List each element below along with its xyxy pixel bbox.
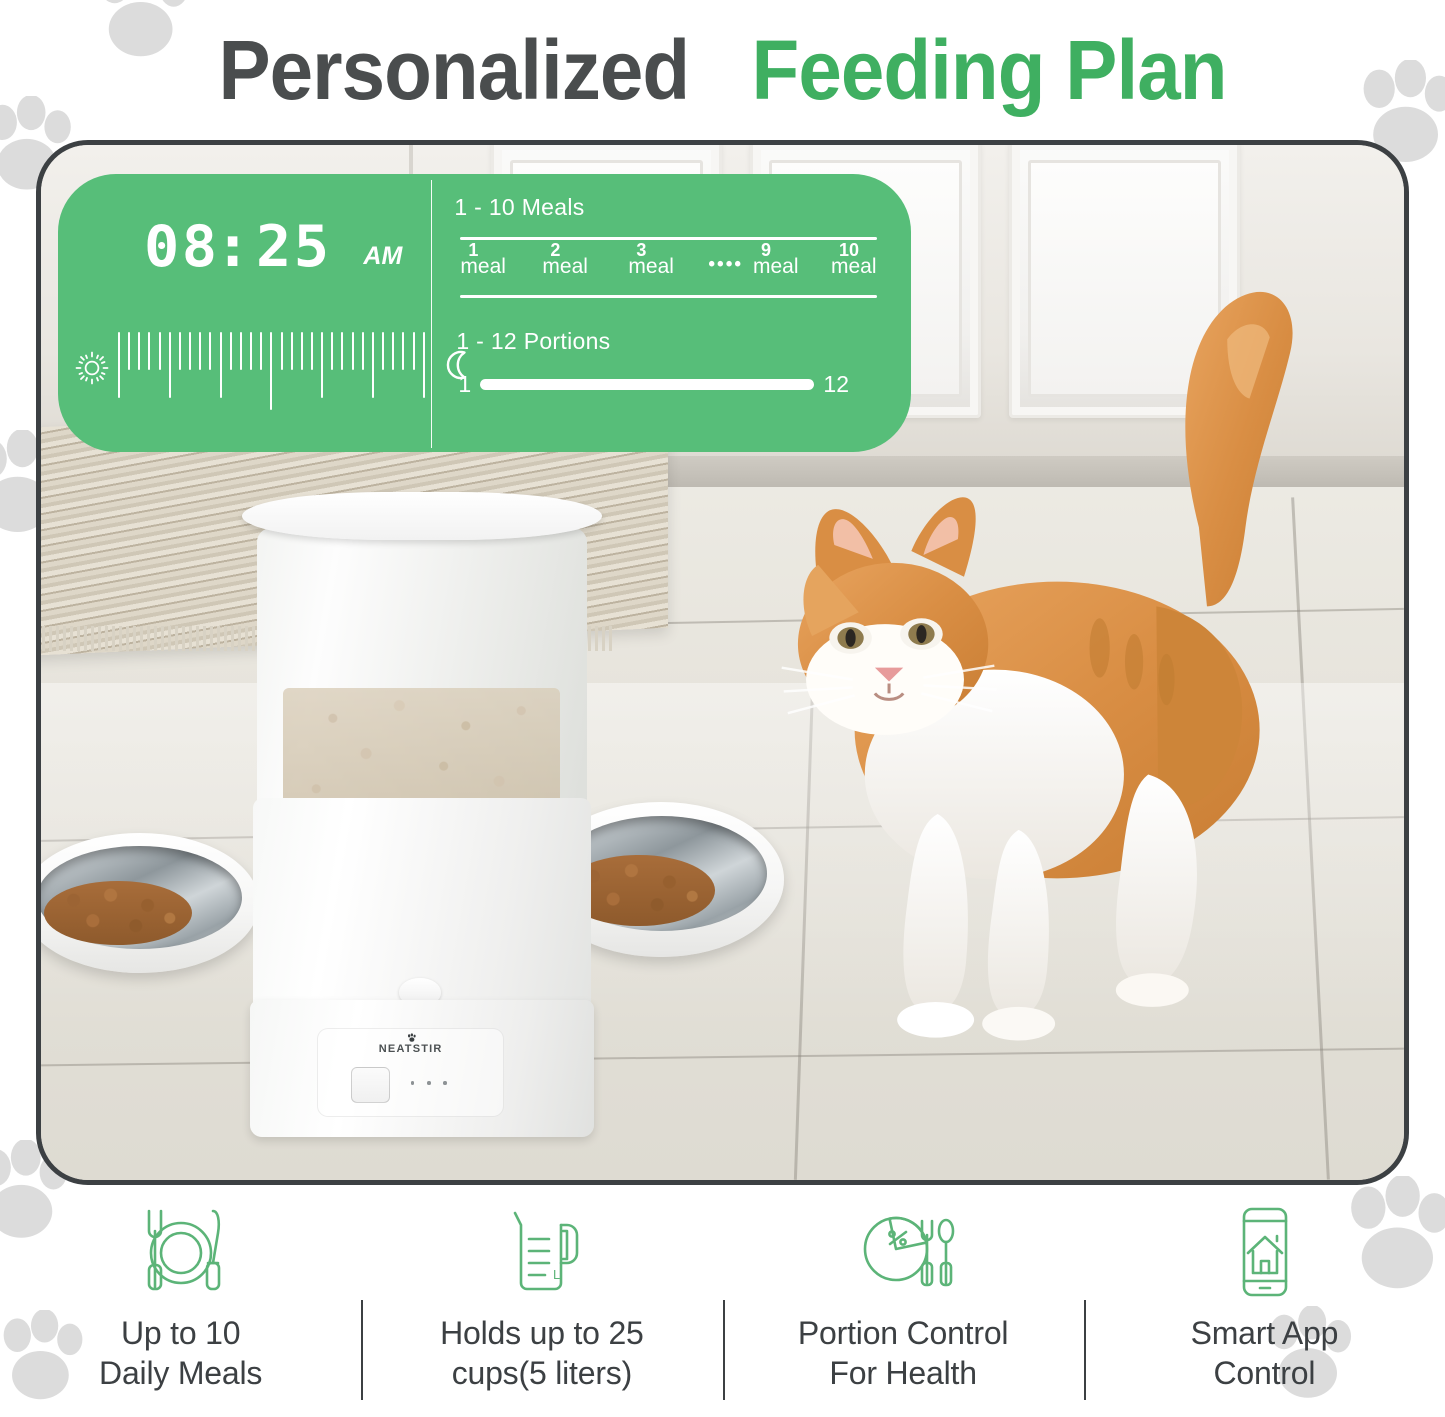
feature-label-line1: Portion Control [798, 1313, 1008, 1353]
timeline-tick [270, 332, 272, 410]
portions-max-label: 12 [823, 371, 849, 398]
timeline-ticks [118, 332, 425, 410]
feature-label: Portion Control For Health [798, 1313, 1008, 1393]
clock-display: 08 : 25 AM [144, 224, 402, 280]
sun-icon [72, 348, 112, 393]
timeline-tick [118, 332, 120, 398]
timeline-tick [413, 332, 415, 370]
measuring-jug-icon: L [493, 1205, 591, 1301]
meal-option[interactable]: 9 meal [753, 255, 831, 279]
page-title-green: Feeding Plan [752, 23, 1227, 117]
feature-label-line1: Smart App [1191, 1313, 1339, 1353]
meal-number: 2 [550, 240, 560, 261]
feeder-body [253, 798, 590, 1007]
portion-pie-plate-icon [848, 1205, 958, 1301]
portions-heading: 1 - 12 Portions [456, 328, 911, 355]
feature-capacity: L Holds up to 25 cups(5 liters) [361, 1205, 722, 1415]
meals-portions-panel: 1 - 10 Meals 1 meal 2 meal 3 meal •••• 9 [432, 174, 911, 452]
timeline-tick [159, 332, 161, 370]
feature-label-line2: cups(5 liters) [440, 1353, 644, 1393]
feature-smart-app: Smart App Control [1084, 1205, 1445, 1415]
feeder-power-button[interactable] [351, 1067, 390, 1102]
timeline-tick [138, 332, 140, 370]
meal-ellipsis: •••• [704, 254, 747, 279]
feature-label: Up to 10 Daily Meals [99, 1313, 262, 1393]
feature-strip: Up to 10 Daily Meals L Holds up to 25 cu… [0, 1205, 1445, 1415]
meal-option[interactable]: 3 meal [628, 255, 704, 279]
feeder-lid [242, 492, 602, 540]
feeding-plan-overlay-card: 08 : 25 AM [58, 174, 911, 452]
kibble-in-hopper [283, 688, 560, 814]
timeline-tick [341, 332, 343, 370]
meal-option[interactable]: 1 meal [460, 255, 542, 279]
plate-fork-knife-icon [129, 1205, 233, 1301]
feature-portion-control: Portion Control For Health [723, 1205, 1084, 1415]
timeline-tick [169, 332, 171, 398]
meal-number: 9 [761, 240, 771, 261]
feature-label-line2: Control [1191, 1353, 1339, 1393]
meal-number: 10 [839, 240, 859, 261]
meal-label: meal [628, 255, 674, 278]
timeline-tick [260, 332, 262, 370]
day-night-timeline[interactable] [58, 332, 489, 412]
timeline-tick [402, 332, 404, 370]
meal-label: meal [753, 255, 799, 278]
timeline-tick [179, 332, 181, 370]
marketing-image-root: Personalized Feeding Plan [0, 0, 1445, 1417]
meals-rule-top [460, 237, 877, 240]
feature-label-line1: Holds up to 25 [440, 1313, 644, 1353]
timeline-tick [362, 332, 364, 370]
timeline-tick [382, 332, 384, 370]
paw-print-icon [407, 1032, 417, 1044]
timeline-tick [301, 332, 303, 370]
timeline-tick [423, 332, 425, 398]
product-brand-label: NEATSTIR [317, 1043, 504, 1055]
portions-min-label: 1 [458, 371, 471, 398]
clock-minutes: 25 [256, 214, 331, 280]
timeline-tick [352, 332, 354, 370]
timeline-tick [250, 332, 252, 370]
jug-unit-label: L [553, 1267, 560, 1282]
feature-label-line2: Daily Meals [99, 1353, 262, 1393]
page-title: Personalized Feeding Plan [51, 22, 1395, 118]
meals-heading: 1 - 10 Meals [454, 194, 911, 221]
pet-feeder-product: NEATSTIR [235, 492, 610, 1144]
portions-slider[interactable]: 1 12 [458, 371, 849, 398]
feeder-hopper [257, 528, 587, 815]
timeline-tick [291, 332, 293, 370]
schedule-panel: 08 : 25 AM [58, 174, 431, 452]
clock-hours: 08 [144, 214, 219, 280]
timeline-tick [240, 332, 242, 370]
feature-label: Holds up to 25 cups(5 liters) [440, 1313, 644, 1393]
timeline-tick [321, 332, 323, 398]
meal-number: 1 [468, 240, 478, 261]
timeline-tick [189, 332, 191, 370]
food-bowl-left [41, 833, 259, 973]
led-indicator [411, 1081, 415, 1085]
feature-label: Smart App Control [1191, 1313, 1339, 1393]
feature-label-line2: For Health [798, 1353, 1008, 1393]
meal-option[interactable]: 10 meal [831, 255, 901, 279]
timeline-tick [392, 332, 394, 370]
clock-separator: : [215, 214, 253, 280]
page-title-dark: Personalized [218, 23, 689, 117]
timeline-tick [199, 332, 201, 370]
timeline-tick [220, 332, 222, 398]
meal-option[interactable]: 2 meal [542, 255, 628, 279]
meal-count-row: 1 meal 2 meal 3 meal •••• 9 meal 10 [460, 252, 901, 283]
timeline-tick [331, 332, 333, 370]
meals-rule-bottom [460, 295, 877, 298]
meal-label: meal [542, 255, 588, 278]
timeline-tick [209, 332, 211, 370]
smartphone-home-icon [1224, 1205, 1304, 1301]
meal-label: meal [460, 255, 506, 278]
led-indicator [443, 1081, 447, 1085]
timeline-tick [230, 332, 232, 370]
feature-daily-meals: Up to 10 Daily Meals [0, 1205, 361, 1415]
portions-slider-track[interactable] [480, 379, 814, 390]
meal-number: 3 [636, 240, 646, 261]
feature-label-line1: Up to 10 [99, 1313, 262, 1353]
timeline-tick [311, 332, 313, 370]
led-indicator [427, 1081, 431, 1085]
timeline-tick [128, 332, 130, 370]
timeline-tick [148, 332, 150, 370]
feeder-led-indicators [407, 1081, 474, 1091]
clock-meridiem: AM [363, 242, 402, 270]
timeline-tick [281, 332, 283, 370]
timeline-tick [372, 332, 374, 398]
